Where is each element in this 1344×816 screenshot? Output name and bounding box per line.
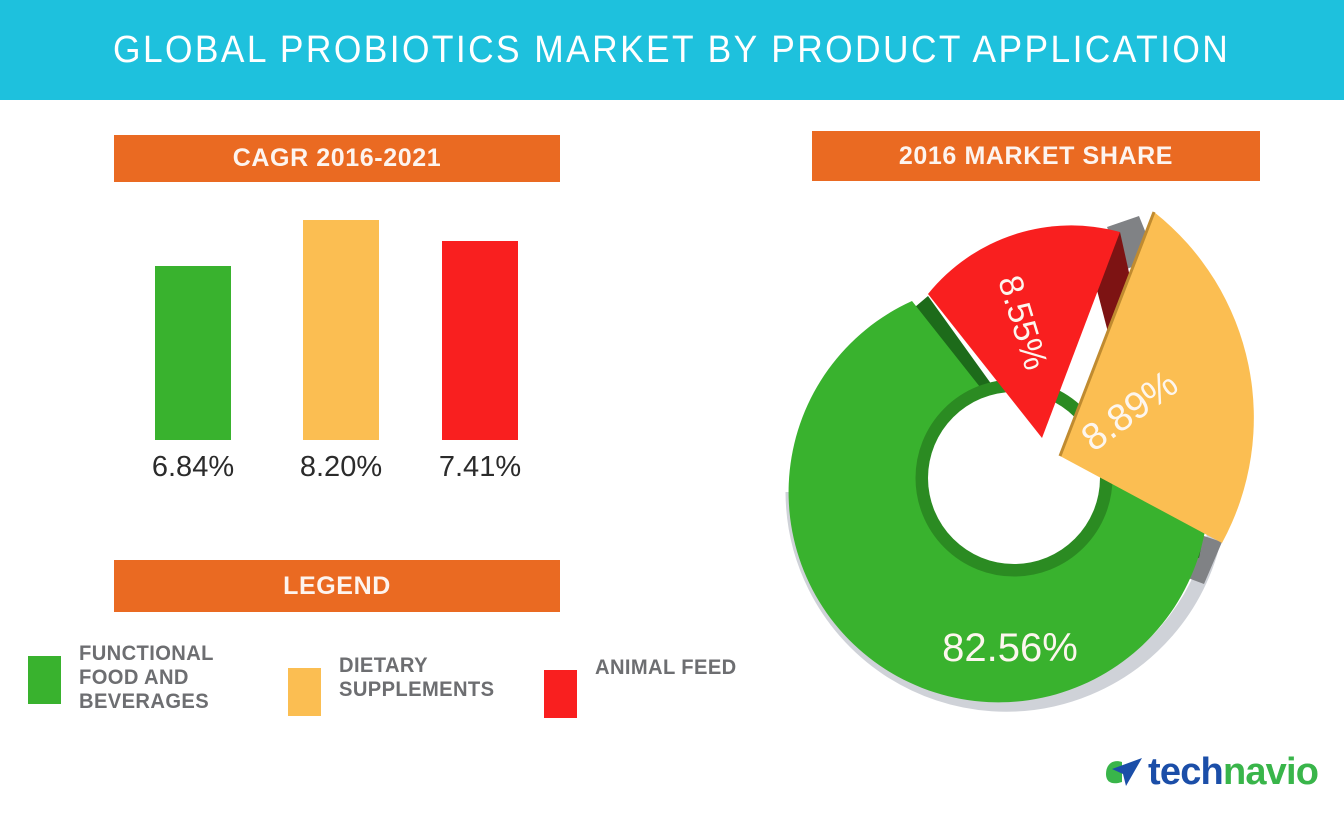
- bar-value-functional-food-and-beverages: 6.84%: [123, 440, 263, 484]
- legend-swatch-dietary-supplements: [288, 668, 321, 716]
- bar-value-animal-feed: 7.41%: [410, 440, 550, 484]
- legend-item-animal-feed: Animal Feed: [544, 656, 743, 718]
- market-share-donut-chart: 82.56% 8.89% 8.55%: [752, 186, 1332, 756]
- bar-column-animal-feed: 7.41%: [442, 241, 518, 440]
- legend-label-animal-feed: Animal Feed: [595, 656, 737, 680]
- cagr-banner-label: CAGR 2016-2021: [233, 144, 442, 173]
- donut-label-functional-food-and-beverages: 82.56%: [942, 626, 1078, 670]
- bar-animal-feed: [442, 241, 518, 440]
- legend-banner-label: Legend: [283, 572, 391, 601]
- bar-dietary-supplements: [303, 220, 379, 440]
- technavio-logo[interactable]: tech navio: [1100, 752, 1318, 792]
- bar-column-functional-food-and-beverages: 6.84%: [155, 266, 231, 440]
- legend-label-dietary-supplements: Dietary Supplements: [339, 654, 494, 702]
- bar-value-dietary-supplements: 8.20%: [271, 440, 411, 484]
- legend-swatch-animal-feed: [544, 670, 577, 718]
- bar-functional-food-and-beverages: [155, 266, 231, 440]
- chart-legend: Functional Food and Beverages Dietary Su…: [20, 636, 780, 746]
- legend-item-functional-food-and-beverages: Functional Food and Beverages: [28, 642, 219, 714]
- legend-swatch-functional-food-and-beverages: [28, 656, 61, 704]
- technavio-paper-plane-icon: [1100, 752, 1144, 792]
- legend-section-banner: Legend: [114, 560, 560, 612]
- market-share-banner-label: 2016 Market Share: [899, 142, 1173, 171]
- infographic-page: Global Probiotics Market by Product Appl…: [0, 0, 1344, 816]
- cagr-section-banner: CAGR 2016-2021: [114, 135, 560, 182]
- header-band: Global Probiotics Market by Product Appl…: [0, 0, 1344, 100]
- logo-text-navio: navio: [1223, 752, 1318, 792]
- legend-item-dietary-supplements: Dietary Supplements: [288, 654, 501, 716]
- logo-text-tech: tech: [1148, 752, 1223, 792]
- legend-label-functional-food-and-beverages: Functional Food and Beverages: [79, 642, 214, 714]
- page-title: Global Probiotics Market by Product Appl…: [113, 29, 1230, 72]
- cagr-bar-chart: 6.84% 8.20% 7.41%: [120, 200, 560, 500]
- market-share-section-banner: 2016 Market Share: [812, 131, 1260, 181]
- bar-column-dietary-supplements: 8.20%: [303, 220, 379, 440]
